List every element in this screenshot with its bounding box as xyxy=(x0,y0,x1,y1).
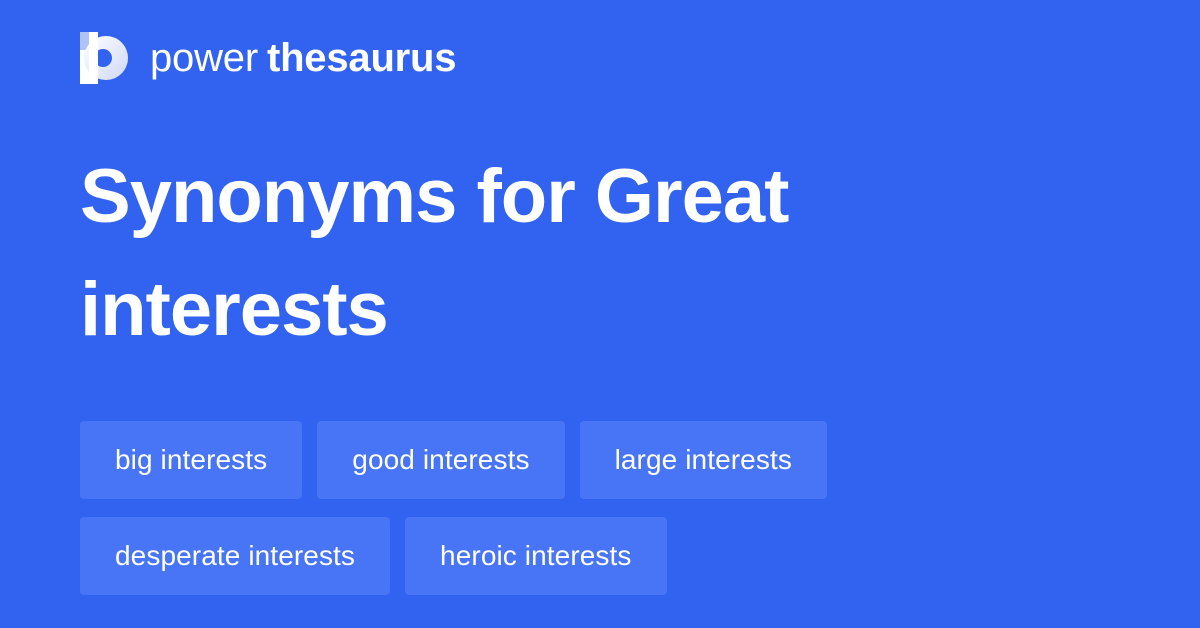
brand-word-power: power xyxy=(150,36,258,80)
synonym-chip-row: desperate interests heroic interests xyxy=(80,517,1140,595)
share-card: powerthesaurus Synonyms for Great intere… xyxy=(0,0,1200,628)
page-title: Synonyms for Great interests xyxy=(80,140,980,366)
brand-name: powerthesaurus xyxy=(150,34,456,82)
brand-word-thesaurus: thesaurus xyxy=(267,36,456,80)
synonym-chip[interactable]: large interests xyxy=(580,421,827,499)
power-thesaurus-b-logo-icon xyxy=(80,32,128,84)
synonym-chip[interactable]: good interests xyxy=(317,421,564,499)
synonym-chip-list: big interests good interests large inter… xyxy=(80,421,1140,595)
synonym-chip-row: big interests good interests large inter… xyxy=(80,421,1140,499)
synonym-chip[interactable]: desperate interests xyxy=(80,517,390,595)
synonym-chip[interactable]: big interests xyxy=(80,421,302,499)
brand-logo[interactable]: powerthesaurus xyxy=(80,28,456,88)
synonym-chip[interactable]: heroic interests xyxy=(405,517,666,595)
